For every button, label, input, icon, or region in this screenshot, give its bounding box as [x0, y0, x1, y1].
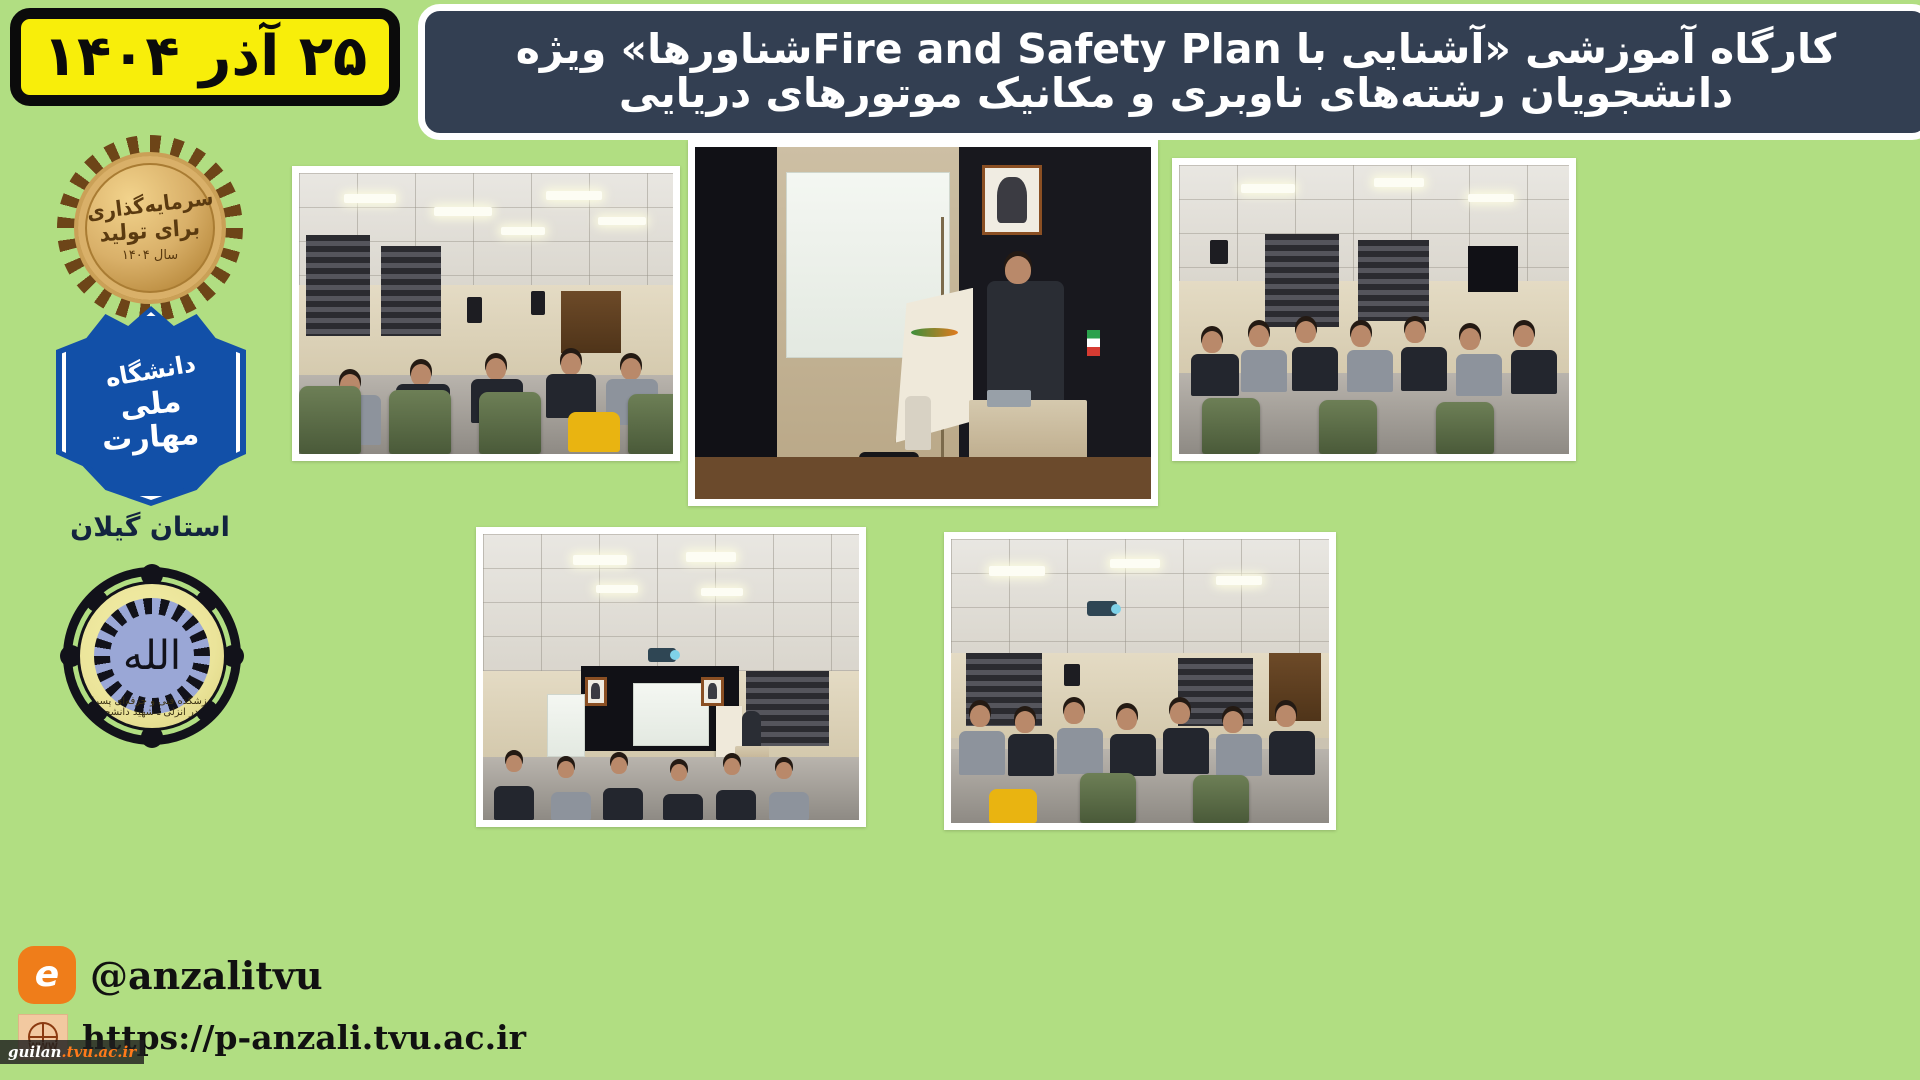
title-banner: کارگاه آموزشی «آشنایی با Fire and Safety… — [418, 4, 1920, 140]
province-label: استان گیلان — [0, 512, 300, 543]
watermark: guilan.tvu.ac.ir — [0, 1040, 144, 1064]
coin-icon: سرمایه‌گذاری برای تولید سال ۱۴۰۴ — [74, 152, 226, 304]
photo-audience-left — [292, 166, 680, 461]
production-investment-logo: سرمایه‌گذاری برای تولید سال ۱۴۰۴ — [34, 130, 266, 326]
website-url[interactable]: https://p-anzali.tvu.ac.ir — [82, 1018, 526, 1057]
title-line-1: کارگاه آموزشی «آشنایی با Fire and Safety… — [516, 27, 1837, 71]
shield-line-3: مهارت — [101, 417, 200, 459]
ministry-seal-logo: الله آموزشکده فنی و حرفه‌ای پسران بندر ا… — [56, 560, 248, 752]
sidebar-logos: سرمایه‌گذاری برای تولید سال ۱۴۰۴ دانشگاه… — [0, 108, 300, 1080]
photo-hall-wide — [476, 527, 866, 827]
photo-presenter-podium — [688, 140, 1158, 506]
eitaa-glyph: e — [35, 957, 59, 993]
photo-audience-bottom-right — [944, 532, 1336, 830]
seal-disc: الله آموزشکده فنی و حرفه‌ای پسران بندر ا… — [77, 581, 227, 731]
eitaa-icon[interactable]: e — [18, 946, 76, 1004]
poster-root: ۲۵ آذر ۱۴۰۴ کارگاه آموزشی «آشنایی با Fir… — [0, 0, 1920, 1080]
date-badge: ۲۵ آذر ۱۴۰۴ — [10, 8, 400, 106]
eitaa-row[interactable]: e @anzalitvu — [18, 946, 578, 1004]
watermark-part-1: guilan — [8, 1043, 61, 1061]
title-line-2: دانشجویان رشته‌های ناوبری و مکانیک موتور… — [619, 71, 1733, 115]
seal-core: الله — [110, 614, 194, 698]
seal-bottom-text: آموزشکده فنی و حرفه‌ای پسران بندر انزلی … — [80, 696, 224, 718]
watermark-part-2: .tvu.ac.ir — [61, 1043, 136, 1061]
coin-year: سال ۱۴۰۴ — [122, 248, 178, 263]
social-handle[interactable]: @anzalitvu — [90, 953, 323, 998]
skills-university-logo: دانشگاه ملی مهارت — [56, 306, 246, 506]
date-badge-text: ۲۵ آذر ۱۴۰۴ — [43, 29, 367, 85]
iran-emblem-icon: الله — [123, 636, 181, 676]
photo-audience-right — [1172, 158, 1576, 461]
